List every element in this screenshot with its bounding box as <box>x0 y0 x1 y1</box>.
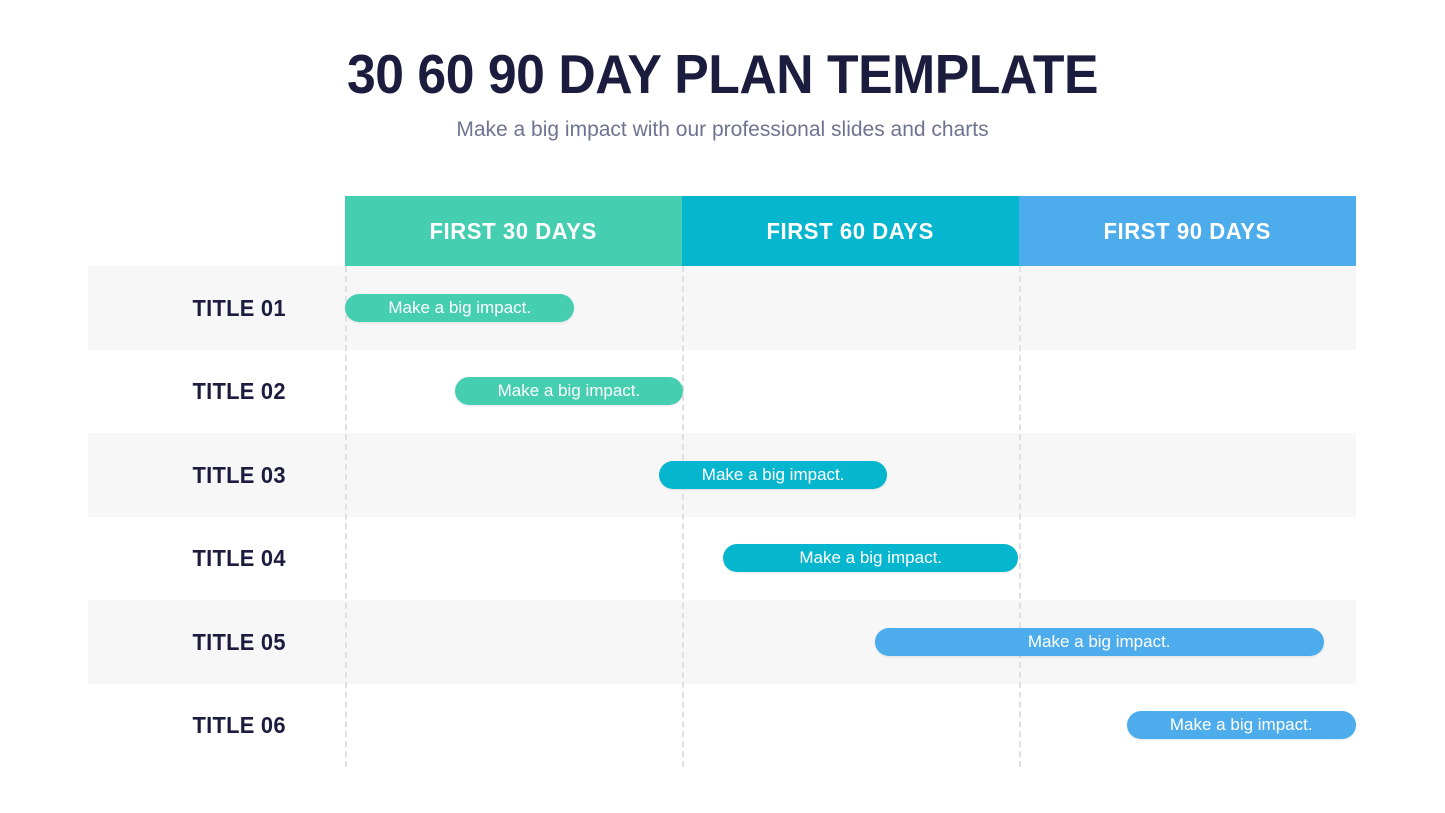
gantt-bar-title-02[interactable]: Make a big impact. <box>455 377 682 405</box>
row-label-text: TITLE 04 <box>192 545 285 572</box>
row-label-title-06: TITLE 06 <box>88 683 318 767</box>
column-divider-90 <box>1019 266 1021 767</box>
gantt-bar-title-01[interactable]: Make a big impact. <box>345 294 574 322</box>
row-label-text: TITLE 05 <box>192 629 285 656</box>
gantt-bar-title-03[interactable]: Make a big impact. <box>659 461 886 489</box>
slide-canvas: 30 60 90 DAY PLAN TEMPLATE Make a big im… <box>0 0 1445 813</box>
row-label-title-01: TITLE 01 <box>88 266 318 350</box>
row-label-text: TITLE 03 <box>192 462 285 489</box>
gantt-bar-title-05[interactable]: Make a big impact. <box>875 628 1324 656</box>
row-label-title-04: TITLE 04 <box>88 516 318 600</box>
gantt-bar-label: Make a big impact. <box>382 298 537 318</box>
row-label-title-03: TITLE 03 <box>88 433 318 517</box>
column-header-first-90-days[interactable]: FIRST 90 DAYS <box>1019 196 1356 266</box>
gantt-bar-label: Make a big impact. <box>696 465 851 485</box>
column-header-label: FIRST 90 DAYS <box>1104 218 1271 245</box>
column-header-first-30-days[interactable]: FIRST 30 DAYS <box>345 196 682 266</box>
gantt-bar-label: Make a big impact. <box>1022 632 1177 652</box>
column-header-label: FIRST 60 DAYS <box>767 218 934 245</box>
gantt-bar-label: Make a big impact. <box>492 381 647 401</box>
row-label-text: TITLE 01 <box>192 295 285 322</box>
column-header-first-60-days[interactable]: FIRST 60 DAYS <box>682 196 1019 266</box>
gantt-bar-label: Make a big impact. <box>1164 715 1319 735</box>
column-header-label: FIRST 30 DAYS <box>430 218 597 245</box>
gantt-bar-label: Make a big impact. <box>793 548 948 568</box>
row-label-title-05: TITLE 05 <box>88 600 318 684</box>
column-divider-60 <box>682 266 684 767</box>
row-label-text: TITLE 02 <box>192 378 285 405</box>
plan-gantt-chart: FIRST 30 DAYS FIRST 60 DAYS FIRST 90 DAY… <box>0 0 1445 813</box>
column-divider-30 <box>345 266 347 767</box>
row-label-text: TITLE 06 <box>192 712 285 739</box>
gantt-bar-title-06[interactable]: Make a big impact. <box>1127 711 1356 739</box>
gantt-bar-title-04[interactable]: Make a big impact. <box>723 544 1018 572</box>
row-label-title-02: TITLE 02 <box>88 349 318 433</box>
